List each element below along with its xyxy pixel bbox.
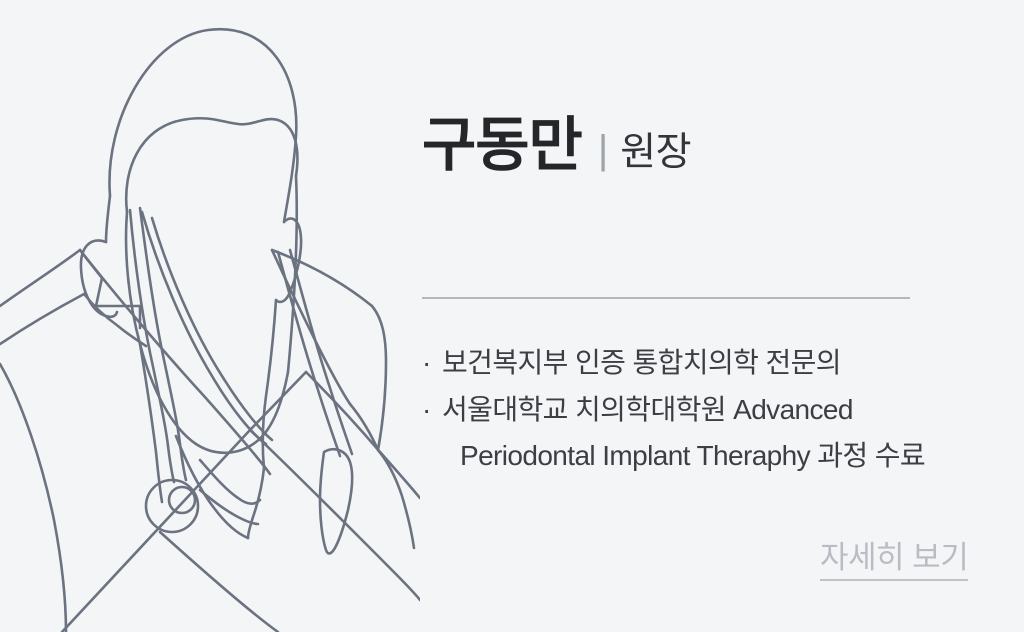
- stethoscope-left-lower-icon: [168, 446, 174, 482]
- coat-collar-left-icon: [96, 278, 140, 306]
- clipboard-top-right-edge-icon: [306, 372, 420, 498]
- coat-right-panel-icon: [372, 306, 386, 450]
- list-item: · 보건복지부 인증 통합치의학 전문의: [422, 340, 982, 385]
- bullet-icon: ·: [422, 387, 442, 432]
- doctor-line-art-illustration: [0, 0, 420, 632]
- doctor-name-row: 구동만 | 원장: [422, 116, 691, 175]
- stethoscope-chestpiece-inner-icon: [169, 487, 195, 513]
- doctor-info-panel: 구동만 | 원장 · 보건복지부 인증 통합치의학 전문의 · 서울대학교 치의…: [422, 0, 1024, 632]
- neck-left-icon: [140, 344, 162, 502]
- doctor-profile-card: 구동만 | 원장 · 보건복지부 인증 통합치의학 전문의 · 서울대학교 치의…: [0, 0, 1024, 632]
- list-item: · 서울대학교 치의학대학원 Advanced Periodontal Impl…: [422, 387, 982, 478]
- stethoscope-left-lower-inner-icon: [180, 444, 186, 480]
- section-divider: [422, 297, 910, 299]
- credential-line: 보건복지부 인증 통합치의학 전문의: [442, 347, 841, 378]
- coat-left-shoulder-icon: [0, 250, 80, 306]
- left-temple-line-icon: [106, 196, 110, 242]
- clipboard-bottom-edge-icon: [160, 532, 278, 632]
- page-title: 구동만: [422, 116, 582, 175]
- credentials-list: · 보건복지부 인증 통합치의학 전문의 · 서울대학교 치의학대학원 Adva…: [422, 340, 982, 480]
- doctor-position: 원장: [620, 133, 691, 172]
- coat-right-edge-icon: [378, 450, 414, 548]
- bullet-icon: ·: [422, 340, 442, 385]
- clipboard-inner-edge-icon: [250, 430, 420, 600]
- stethoscope-chestpiece-icon: [146, 480, 198, 532]
- stethoscope-right-tube-icon: [278, 252, 340, 456]
- view-details-link[interactable]: 자세히 보기: [820, 540, 968, 581]
- name-separator: |: [598, 130, 608, 170]
- credential-line: 서울대학교 치의학대학원 Advanced: [442, 394, 853, 425]
- coat-lower-left-icon: [0, 364, 66, 632]
- credential-line-continuation: Periodontal Implant Theraphy 과정 수료: [442, 433, 982, 478]
- coat-body-left-icon: [0, 294, 84, 344]
- head-outline-icon: [109, 29, 296, 222]
- clipboard-left-edge-icon: [62, 372, 306, 632]
- shirt-fold-icon: [200, 490, 258, 524]
- hairline-icon: [126, 118, 297, 212]
